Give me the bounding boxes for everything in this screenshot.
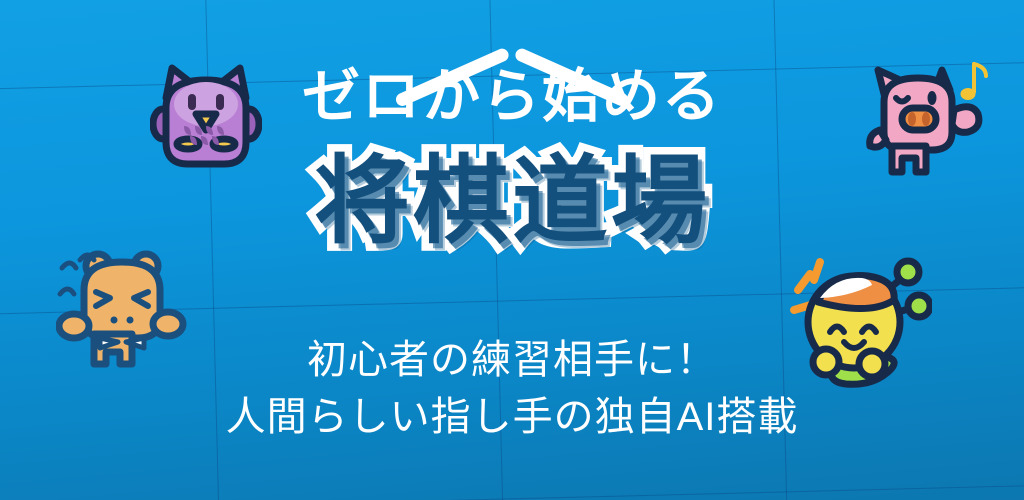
hamster-mascot [56,238,190,374]
music-note-icon [961,64,987,100]
owl-eye-right [216,94,224,110]
pig-nostril-left [908,112,916,126]
robot-mascot [786,246,932,390]
pig-eye-right [928,91,937,105]
hamster-nose-left [111,317,118,324]
owl-mascot [150,52,262,172]
subtitle-line-2: 人間らしい指し手の独自AI搭載 [0,389,1024,446]
hamster-nose-right [127,317,134,324]
pig-mascot [862,52,990,184]
pig-eye-wink [896,98,908,102]
grid-line-horizontal [0,481,1024,500]
owl-eye-left [188,94,196,110]
pig-nostril-right [922,112,930,126]
app-banner: ゼロから始める 将棋道場 初心者の練習相手に！ 人間らしい指し手の独自AI搭載 [0,0,1024,500]
